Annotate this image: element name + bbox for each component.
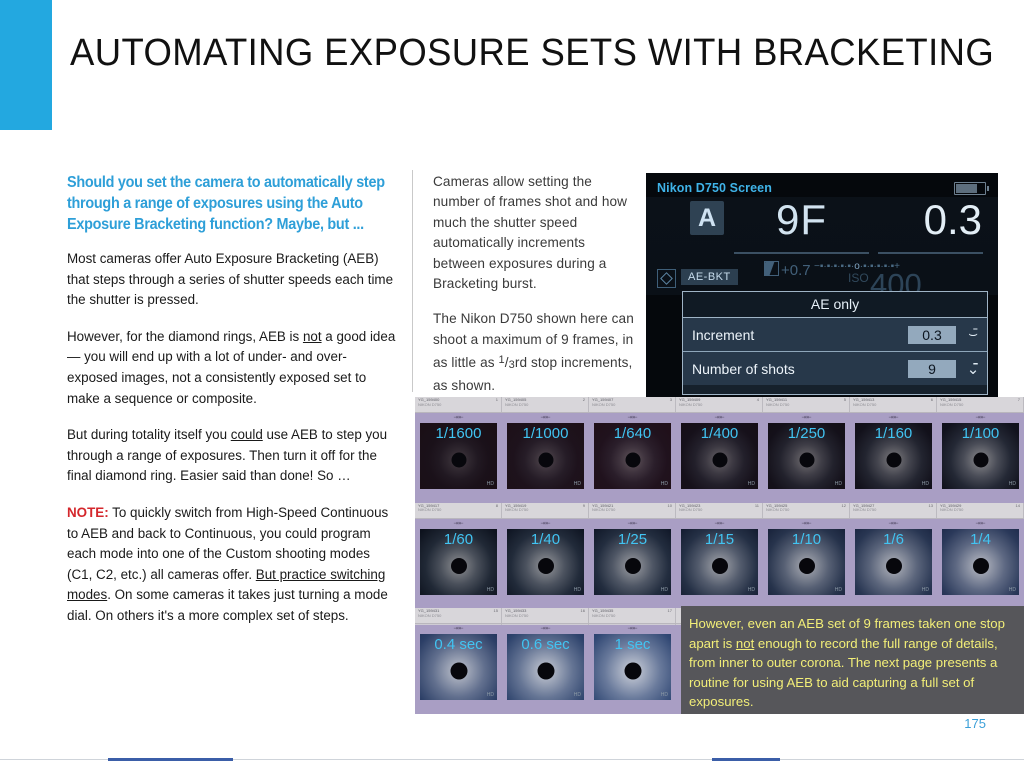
- filename-cell: YG_159413NIKON D7506: [850, 397, 937, 412]
- moon-disc: [538, 558, 554, 574]
- hd-badge: HD: [487, 587, 494, 593]
- moon-disc: [973, 453, 988, 468]
- filename-cell: YG_159431NIKON D75015: [415, 608, 502, 623]
- moon-disc: [451, 558, 467, 574]
- filename-strip: YG_159400NIKON D7501YG_159405NIKON D7502…: [415, 397, 1024, 413]
- eclipse-thumbnail[interactable]: 1/40HD: [507, 529, 584, 595]
- bracket-down-icon: ⌄̄: [963, 360, 983, 378]
- shutter-speed-label: 1/60: [420, 531, 497, 548]
- filename-cell: YG_159419NIKON D7509: [502, 503, 589, 518]
- footer-progress-tick-2: [712, 758, 780, 761]
- crop-handle-icon[interactable]: ⇥⇤: [627, 520, 637, 527]
- hd-badge: HD: [1009, 481, 1016, 487]
- filename-cell: YG_159407NIKON D7503: [589, 397, 676, 412]
- middle-text-column: Cameras allow setting the number of fram…: [433, 172, 638, 411]
- crop-handle-icon[interactable]: ⇥⇤: [627, 625, 637, 632]
- crop-handle-icon[interactable]: ⇥⇤: [714, 414, 724, 421]
- lp3-a: But during totality itself you: [67, 427, 231, 442]
- bracketing-menu-panel: AE only Increment 0.3 ⌣̄ Number of shots…: [682, 291, 988, 395]
- moon-disc: [799, 558, 815, 574]
- bracket-up-icon: ⌣̄: [963, 326, 983, 343]
- lp3-underline: could: [231, 427, 263, 442]
- photo-grid-row: YG_159417NIKON D7508YG_159419NIKON D7509…: [415, 503, 1024, 609]
- eclipse-thumbnail[interactable]: 1/100HD: [942, 423, 1019, 489]
- increment-value-large: 0.3: [924, 196, 982, 244]
- note-label: NOTE:: [67, 505, 109, 520]
- page-number: 175: [964, 716, 986, 731]
- exposure-comp-icon: [764, 261, 779, 276]
- crop-handle-icon[interactable]: ⇥⇤: [453, 625, 463, 632]
- exposure-comp-value: +0.7: [781, 262, 811, 279]
- eclipse-thumbnail[interactable]: 1/640HD: [594, 423, 671, 489]
- battery-icon: [954, 182, 986, 195]
- crop-handle-icon[interactable]: ⇥⇤: [453, 520, 463, 527]
- mode-badge: A: [690, 201, 724, 235]
- photo-cell[interactable]: ⇥⇤1/60HD: [415, 525, 502, 615]
- camera-screen-label: Nikon D750 Screen: [657, 181, 772, 195]
- menu-row-increment-label: Increment: [692, 327, 754, 343]
- filename-cell: YG_159411NIKON D7505: [763, 397, 850, 412]
- eclipse-thumbnail[interactable]: 1/160HD: [855, 423, 932, 489]
- crop-handle-icon[interactable]: ⇥⇤: [888, 414, 898, 421]
- photo-cell[interactable]: ⇥⇤1/10HD: [763, 525, 850, 615]
- hd-badge: HD: [487, 692, 494, 698]
- left-paragraph-2: However, for the diamond rings, AEB is n…: [67, 327, 397, 409]
- photo-cell[interactable]: ⇥⇤1/1000HD: [502, 419, 589, 509]
- moon-disc: [450, 663, 467, 680]
- photo-cell[interactable]: ⇥⇤1/640HD: [589, 419, 676, 509]
- menu-row-shots-value[interactable]: 9: [908, 360, 956, 378]
- filename-cell: YG_159409NIKON D7504: [676, 397, 763, 412]
- photo-cell[interactable]: ⇥⇤0.6 secHD: [502, 630, 589, 714]
- shutter-speed-label: 1/6: [855, 531, 932, 548]
- moon-disc: [799, 453, 814, 468]
- filename-cell: YG_159415NIKON D7507: [937, 397, 1024, 412]
- eclipse-thumbnail[interactable]: 1/250HD: [768, 423, 845, 489]
- shutter-speed-label: 1/40: [507, 531, 584, 548]
- shutter-speed-label: 1/4: [942, 531, 1019, 548]
- middle-paragraph-2: The Nikon D750 shown here can shoot a ma…: [433, 309, 638, 396]
- left-note-paragraph: NOTE: To quickly switch from High-Speed …: [67, 503, 397, 627]
- crop-handle-icon[interactable]: ⇥⇤: [801, 414, 811, 421]
- hd-badge: HD: [574, 692, 581, 698]
- filename-strip: YG_159417NIKON D7508YG_159419NIKON D7509…: [415, 503, 1024, 519]
- ae-bkt-badge: AE-BKT: [681, 269, 738, 285]
- moon-disc: [451, 453, 466, 468]
- shutter-speed-label: 0.6 sec: [507, 636, 584, 653]
- crop-handle-icon[interactable]: ⇥⇤: [801, 520, 811, 527]
- filename-cell: YG_159425NIKON D75012: [763, 503, 850, 518]
- photo-cell[interactable]: ⇥⇤1/6HD: [850, 525, 937, 615]
- filename-cell: YG_159429NIKON D75014: [937, 503, 1024, 518]
- shutter-speed-label: 1/10: [768, 531, 845, 548]
- moon-disc: [624, 663, 641, 680]
- eclipse-thumbnail[interactable]: 1/15HD: [681, 529, 758, 595]
- menu-title: AE only: [683, 292, 987, 318]
- hd-badge: HD: [922, 587, 929, 593]
- shutter-speed-label: 1/1600: [420, 425, 497, 442]
- hd-badge: HD: [487, 481, 494, 487]
- hd-badge: HD: [574, 587, 581, 593]
- hd-badge: HD: [922, 481, 929, 487]
- crop-handle-icon[interactable]: ⇥⇤: [888, 520, 898, 527]
- footer-progress-tick-1: [108, 758, 233, 761]
- frames-underline: [734, 252, 869, 254]
- nikon-camera-screen: Nikon D750 Screen A 9F 0.3 +0.7 −▪·▪·▪·▪…: [646, 173, 998, 397]
- eclipse-thumbnail[interactable]: 1 secHD: [594, 634, 671, 700]
- photo-cell[interactable]: ⇥⇤1/250HD: [763, 419, 850, 509]
- shutter-speed-label: 1/25: [594, 531, 671, 548]
- filename-cell: YG_159423NIKON D75011: [676, 503, 763, 518]
- eclipse-thumbnail[interactable]: 1/10HD: [768, 529, 845, 595]
- menu-row-increment[interactable]: Increment 0.3 ⌣̄: [683, 318, 987, 352]
- moon-disc: [886, 558, 902, 574]
- eclipse-thumbnail[interactable]: 0.6 secHD: [507, 634, 584, 700]
- photo-cell[interactable]: ⇥⇤1/25HD: [589, 525, 676, 615]
- left-paragraph-3: But during totality itself you could use…: [67, 425, 397, 487]
- shutter-speed-label: 1/160: [855, 425, 932, 442]
- eclipse-thumbnail[interactable]: 0.4 secHD: [420, 634, 497, 700]
- moon-disc: [537, 663, 554, 680]
- crop-handle-icon[interactable]: ⇥⇤: [540, 625, 550, 632]
- photo-cell[interactable]: ⇥⇤1 secHD: [589, 630, 676, 714]
- eclipse-thumbnail[interactable]: 1/1600HD: [420, 423, 497, 489]
- shutter-speed-label: 1/250: [768, 425, 845, 442]
- photo-cell[interactable]: ⇥⇤1/160HD: [850, 419, 937, 509]
- crop-handle-icon[interactable]: ⇥⇤: [627, 414, 637, 421]
- photo-cell[interactable]: ⇥⇤1/15HD: [676, 525, 763, 615]
- shutter-speed-label: 0.4 sec: [420, 636, 497, 653]
- shutter-speed-label: 1/15: [681, 531, 758, 548]
- menu-row-increment-value[interactable]: 0.3: [908, 326, 956, 344]
- photo-cell[interactable]: ⇥⇤0.4 secHD: [415, 630, 502, 714]
- left-text-column: Should you set the camera to automatical…: [67, 172, 397, 643]
- accent-bar: [0, 0, 52, 130]
- photo-grid-row: YG_159400NIKON D7501YG_159405NIKON D7502…: [415, 397, 1024, 503]
- lede-paragraph: Should you set the camera to automatical…: [67, 172, 397, 235]
- eclipse-thumbnail[interactable]: 1/60HD: [420, 529, 497, 595]
- frames-value: 9F: [776, 196, 827, 244]
- eclipse-thumbnail[interactable]: 1/4HD: [942, 529, 1019, 595]
- filename-cell: YG_159417NIKON D7508: [415, 503, 502, 518]
- lp2-a: However, for the diamond rings, AEB is: [67, 329, 303, 344]
- filename-cell: YG_159435NIKON D75017: [589, 608, 676, 623]
- moon-disc: [973, 558, 989, 574]
- menu-row-number-of-shots[interactable]: Number of shots 9 ⌄̄: [683, 352, 987, 385]
- moon-disc: [625, 453, 640, 468]
- moon-disc: [886, 453, 901, 468]
- eclipse-thumbnail[interactable]: 1/400HD: [681, 423, 758, 489]
- focus-point-icon: [657, 269, 676, 288]
- photo-cell[interactable]: ⇥⇤1/4HD: [937, 525, 1024, 615]
- photo-cell[interactable]: ⇥⇤1/100HD: [937, 419, 1024, 509]
- increment-underline: [878, 252, 983, 254]
- crop-handle-icon[interactable]: ⇥⇤: [714, 520, 724, 527]
- eclipse-thumbnail[interactable]: 1/1000HD: [507, 423, 584, 489]
- thumbnail-row: ⇥⇤1/1600HD⇥⇤1/1000HD⇥⇤1/640HD⇥⇤1/400HD⇥⇤…: [415, 413, 1024, 509]
- thumbnail-row: ⇥⇤1/60HD⇥⇤1/40HD⇥⇤1/25HD⇥⇤1/15HD⇥⇤1/10HD…: [415, 519, 1024, 615]
- hd-badge: HD: [748, 587, 755, 593]
- shutter-speed-label: 1/400: [681, 425, 758, 442]
- menu-row-shots-label: Number of shots: [692, 361, 795, 377]
- crop-handle-icon[interactable]: ⇥⇤: [540, 520, 550, 527]
- moon-disc: [712, 453, 727, 468]
- filename-cell: YG_159400NIKON D7501: [415, 397, 502, 412]
- hd-badge: HD: [1009, 587, 1016, 593]
- filename-cell: YG_159427NIKON D75013: [850, 503, 937, 518]
- crop-handle-icon[interactable]: ⇥⇤: [453, 414, 463, 421]
- shutter-speed-label: 1/100: [942, 425, 1019, 442]
- moon-disc: [538, 453, 553, 468]
- moon-disc: [625, 558, 641, 574]
- note-b: . On some cameras it takes just turning …: [67, 587, 388, 623]
- iso-label: ISO: [848, 271, 869, 285]
- column-divider: [412, 170, 413, 392]
- hd-badge: HD: [835, 587, 842, 593]
- eclipse-thumbnail[interactable]: 1/25HD: [594, 529, 671, 595]
- crop-handle-icon[interactable]: ⇥⇤: [975, 520, 985, 527]
- crop-handle-icon[interactable]: ⇥⇤: [540, 414, 550, 421]
- left-paragraph-1: Most cameras offer Auto Exposure Bracket…: [67, 249, 397, 311]
- hd-badge: HD: [661, 692, 668, 698]
- photo-cell[interactable]: ⇥⇤1/40HD: [502, 525, 589, 615]
- filename-cell: YG_159405NIKON D7502: [502, 397, 589, 412]
- callout-box: However, even an AEB set of 9 frames tak…: [681, 606, 1024, 714]
- photo-cell[interactable]: ⇥⇤1/1600HD: [415, 419, 502, 509]
- shutter-speed-label: 1 sec: [594, 636, 671, 653]
- eclipse-thumbnail[interactable]: 1/6HD: [855, 529, 932, 595]
- hd-badge: HD: [748, 481, 755, 487]
- exposure-compensation: +0.7: [764, 261, 811, 279]
- shutter-speed-label: 1/1000: [507, 425, 584, 442]
- shutter-speed-label: 1/640: [594, 425, 671, 442]
- hd-badge: HD: [661, 587, 668, 593]
- hd-badge: HD: [835, 481, 842, 487]
- hd-badge: HD: [574, 481, 581, 487]
- photo-cell[interactable]: ⇥⇤1/400HD: [676, 419, 763, 509]
- filename-cell: YG_159421NIKON D75010: [589, 503, 676, 518]
- callout-underline: not: [736, 636, 754, 651]
- filename-cell: YG_159433NIKON D75016: [502, 608, 589, 623]
- crop-handle-icon[interactable]: ⇥⇤: [975, 414, 985, 421]
- hd-badge: HD: [661, 481, 668, 487]
- moon-disc: [712, 558, 728, 574]
- lp2-underline: not: [303, 329, 322, 344]
- slide-canvas: AUTOMATING EXPOSURE SETS WITH BRACKETING…: [0, 0, 1024, 768]
- page-title: AUTOMATING EXPOSURE SETS WITH BRACKETING: [70, 32, 963, 75]
- middle-paragraph-1: Cameras allow setting the number of fram…: [433, 172, 638, 294]
